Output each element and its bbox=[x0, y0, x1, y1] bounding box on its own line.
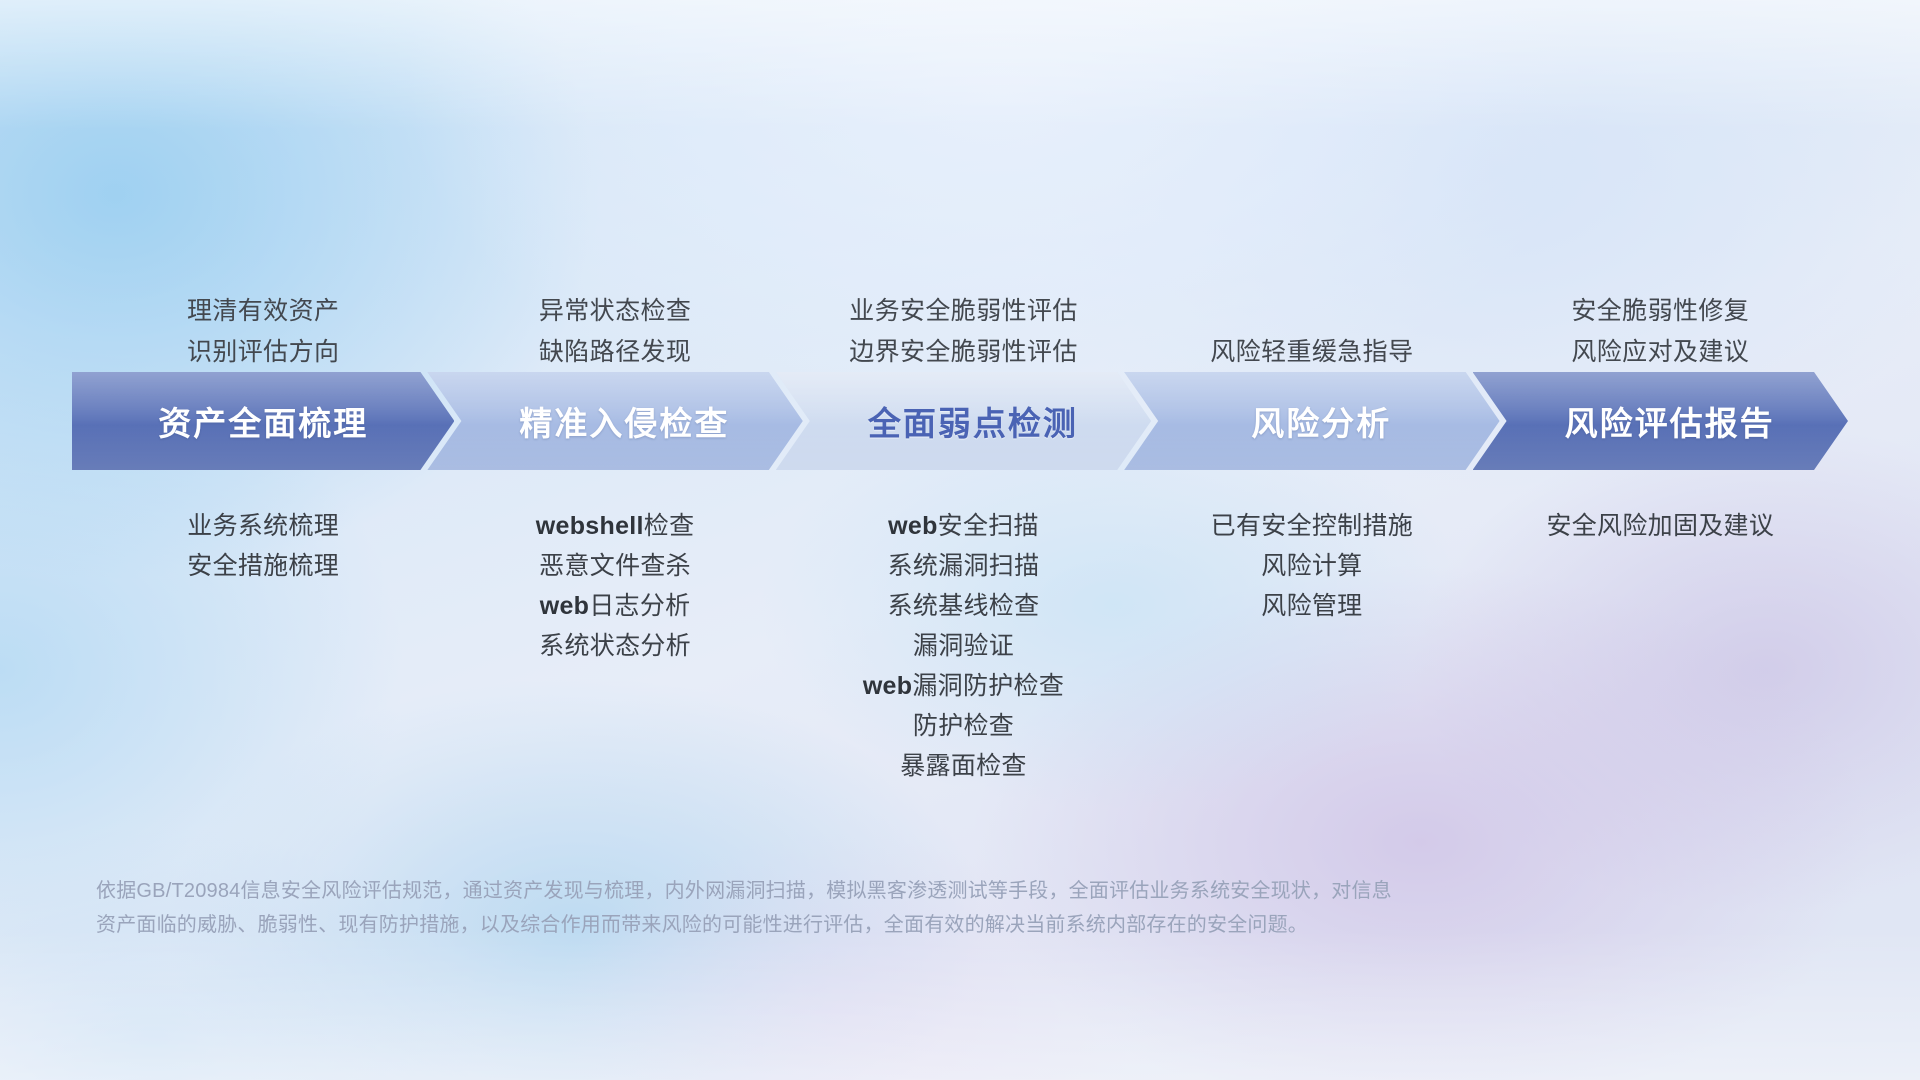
bottom-note-item: web漏洞防护检查 bbox=[776, 666, 1151, 706]
bottom-note-item: 系统状态分析 bbox=[427, 626, 802, 666]
process-step-label: 资产全面梳理 bbox=[158, 397, 368, 445]
bottom-note-item: 安全风险加固及建议 bbox=[1473, 506, 1848, 546]
bottom-note-item: 风险计算 bbox=[1124, 546, 1499, 586]
process-chevron-ribbon: 资产全面梳理精准入侵检查全面弱点检测风险分析风险评估报告 bbox=[72, 372, 1848, 470]
bottom-note-text: 检查 bbox=[644, 512, 695, 540]
top-notes-risk-analysis: 风险轻重缓急指导 bbox=[1124, 332, 1499, 373]
bottom-note-text: 暴露面检查 bbox=[900, 752, 1027, 780]
bottom-note-item: webshell检查 bbox=[427, 506, 802, 546]
bottom-note-text: 恶意文件查杀 bbox=[539, 552, 691, 580]
process-step-assessment-report[interactable]: 风险评估报告 bbox=[1473, 372, 1848, 470]
top-note-item: 风险轻重缓急指导 bbox=[1124, 332, 1499, 373]
bottom-note-item: web安全扫描 bbox=[776, 506, 1151, 546]
bottom-note-item: 暴露面检查 bbox=[776, 746, 1151, 786]
top-note-item: 边界安全脆弱性评估 bbox=[776, 332, 1151, 373]
bottom-note-text: 日志分析 bbox=[589, 592, 690, 620]
bottom-note-item: 已有安全控制措施 bbox=[1124, 506, 1499, 546]
process-step-asset-inventory[interactable]: 资产全面梳理 bbox=[72, 372, 454, 470]
bottom-note-text: 安全风险加固及建议 bbox=[1546, 512, 1774, 540]
top-notes-assessment-report: 安全脆弱性修复风险应对及建议 bbox=[1473, 291, 1848, 372]
bottom-note-text: 业务系统梳理 bbox=[187, 512, 339, 540]
slide-canvas: 理清有效资产识别评估方向业务系统梳理安全措施梳理异常状态检查缺陷路径发现webs… bbox=[0, 0, 1920, 1080]
top-note-item: 识别评估方向 bbox=[72, 332, 454, 373]
footer-line-1: 依据GB/T20984信息安全风险评估规范，通过资产发现与梳理，内外网漏洞扫描，… bbox=[96, 874, 1596, 908]
bottom-note-text: 系统基线检查 bbox=[888, 592, 1040, 620]
top-note-item: 安全脆弱性修复 bbox=[1473, 291, 1848, 332]
bottom-note-item: 系统基线检查 bbox=[776, 586, 1151, 626]
bottom-note-item: 系统漏洞扫描 bbox=[776, 546, 1151, 586]
top-note-item: 业务安全脆弱性评估 bbox=[776, 291, 1151, 332]
bottom-notes-risk-analysis: 已有安全控制措施风险计算风险管理 bbox=[1124, 506, 1499, 626]
process-step-label: 精准入侵检查 bbox=[519, 397, 729, 445]
bottom-note-keyword: web bbox=[863, 672, 913, 700]
bottom-note-text: 安全扫描 bbox=[938, 512, 1039, 540]
process-step-risk-analysis[interactable]: 风险分析 bbox=[1124, 372, 1499, 470]
process-step-weakness-detection[interactable]: 全面弱点检测 bbox=[776, 372, 1151, 470]
bottom-note-text: 安全措施梳理 bbox=[187, 552, 339, 580]
bottom-notes-asset-inventory: 业务系统梳理安全措施梳理 bbox=[72, 506, 454, 586]
process-step-label: 风险分析 bbox=[1251, 397, 1391, 445]
bottom-note-keyword: web bbox=[888, 512, 938, 540]
bottom-note-item: 风险管理 bbox=[1124, 586, 1499, 626]
top-notes-asset-inventory: 理清有效资产识别评估方向 bbox=[72, 291, 454, 372]
bottom-notes-intrusion-check: webshell检查恶意文件查杀web日志分析系统状态分析 bbox=[427, 506, 802, 666]
bottom-note-item: web日志分析 bbox=[427, 586, 802, 626]
bottom-note-text: 风险计算 bbox=[1261, 552, 1362, 580]
footer-line-2: 资产面临的威胁、脆弱性、现有防护措施，以及综合作用而带来风险的可能性进行评估，全… bbox=[96, 908, 1596, 942]
top-note-item: 异常状态检查 bbox=[427, 291, 802, 332]
bottom-note-item: 防护检查 bbox=[776, 706, 1151, 746]
bottom-note-item: 业务系统梳理 bbox=[72, 506, 454, 546]
bottom-note-item: 恶意文件查杀 bbox=[427, 546, 802, 586]
bottom-note-text: 漏洞防护检查 bbox=[912, 672, 1064, 700]
top-note-item: 理清有效资产 bbox=[72, 291, 454, 332]
bottom-notes-weakness-detection: web安全扫描系统漏洞扫描系统基线检查漏洞验证web漏洞防护检查防护检查暴露面检… bbox=[776, 506, 1151, 786]
bottom-note-keyword: webshell bbox=[536, 512, 644, 540]
bottom-notes-assessment-report: 安全风险加固及建议 bbox=[1473, 506, 1848, 546]
bottom-note-text: 漏洞验证 bbox=[913, 632, 1014, 660]
bottom-note-text: 防护检查 bbox=[913, 712, 1014, 740]
bottom-note-text: 已有安全控制措施 bbox=[1211, 512, 1413, 540]
top-note-item: 缺陷路径发现 bbox=[427, 332, 802, 373]
footer-description: 依据GB/T20984信息安全风险评估规范，通过资产发现与梳理，内外网漏洞扫描，… bbox=[96, 874, 1596, 942]
top-notes-intrusion-check: 异常状态检查缺陷路径发现 bbox=[427, 291, 802, 372]
bottom-note-item: 安全措施梳理 bbox=[72, 546, 454, 586]
process-step-intrusion-check[interactable]: 精准入侵检查 bbox=[427, 372, 802, 470]
bottom-note-text: 风险管理 bbox=[1261, 592, 1362, 620]
top-note-item: 风险应对及建议 bbox=[1473, 332, 1848, 373]
bottom-note-text: 系统状态分析 bbox=[539, 632, 691, 660]
bottom-note-item: 漏洞验证 bbox=[776, 626, 1151, 666]
bottom-note-text: 系统漏洞扫描 bbox=[888, 552, 1040, 580]
top-notes-weakness-detection: 业务安全脆弱性评估边界安全脆弱性评估 bbox=[776, 291, 1151, 372]
process-step-label: 全面弱点检测 bbox=[868, 397, 1078, 445]
process-step-label: 风险评估报告 bbox=[1565, 397, 1775, 445]
bottom-note-keyword: web bbox=[540, 592, 590, 620]
